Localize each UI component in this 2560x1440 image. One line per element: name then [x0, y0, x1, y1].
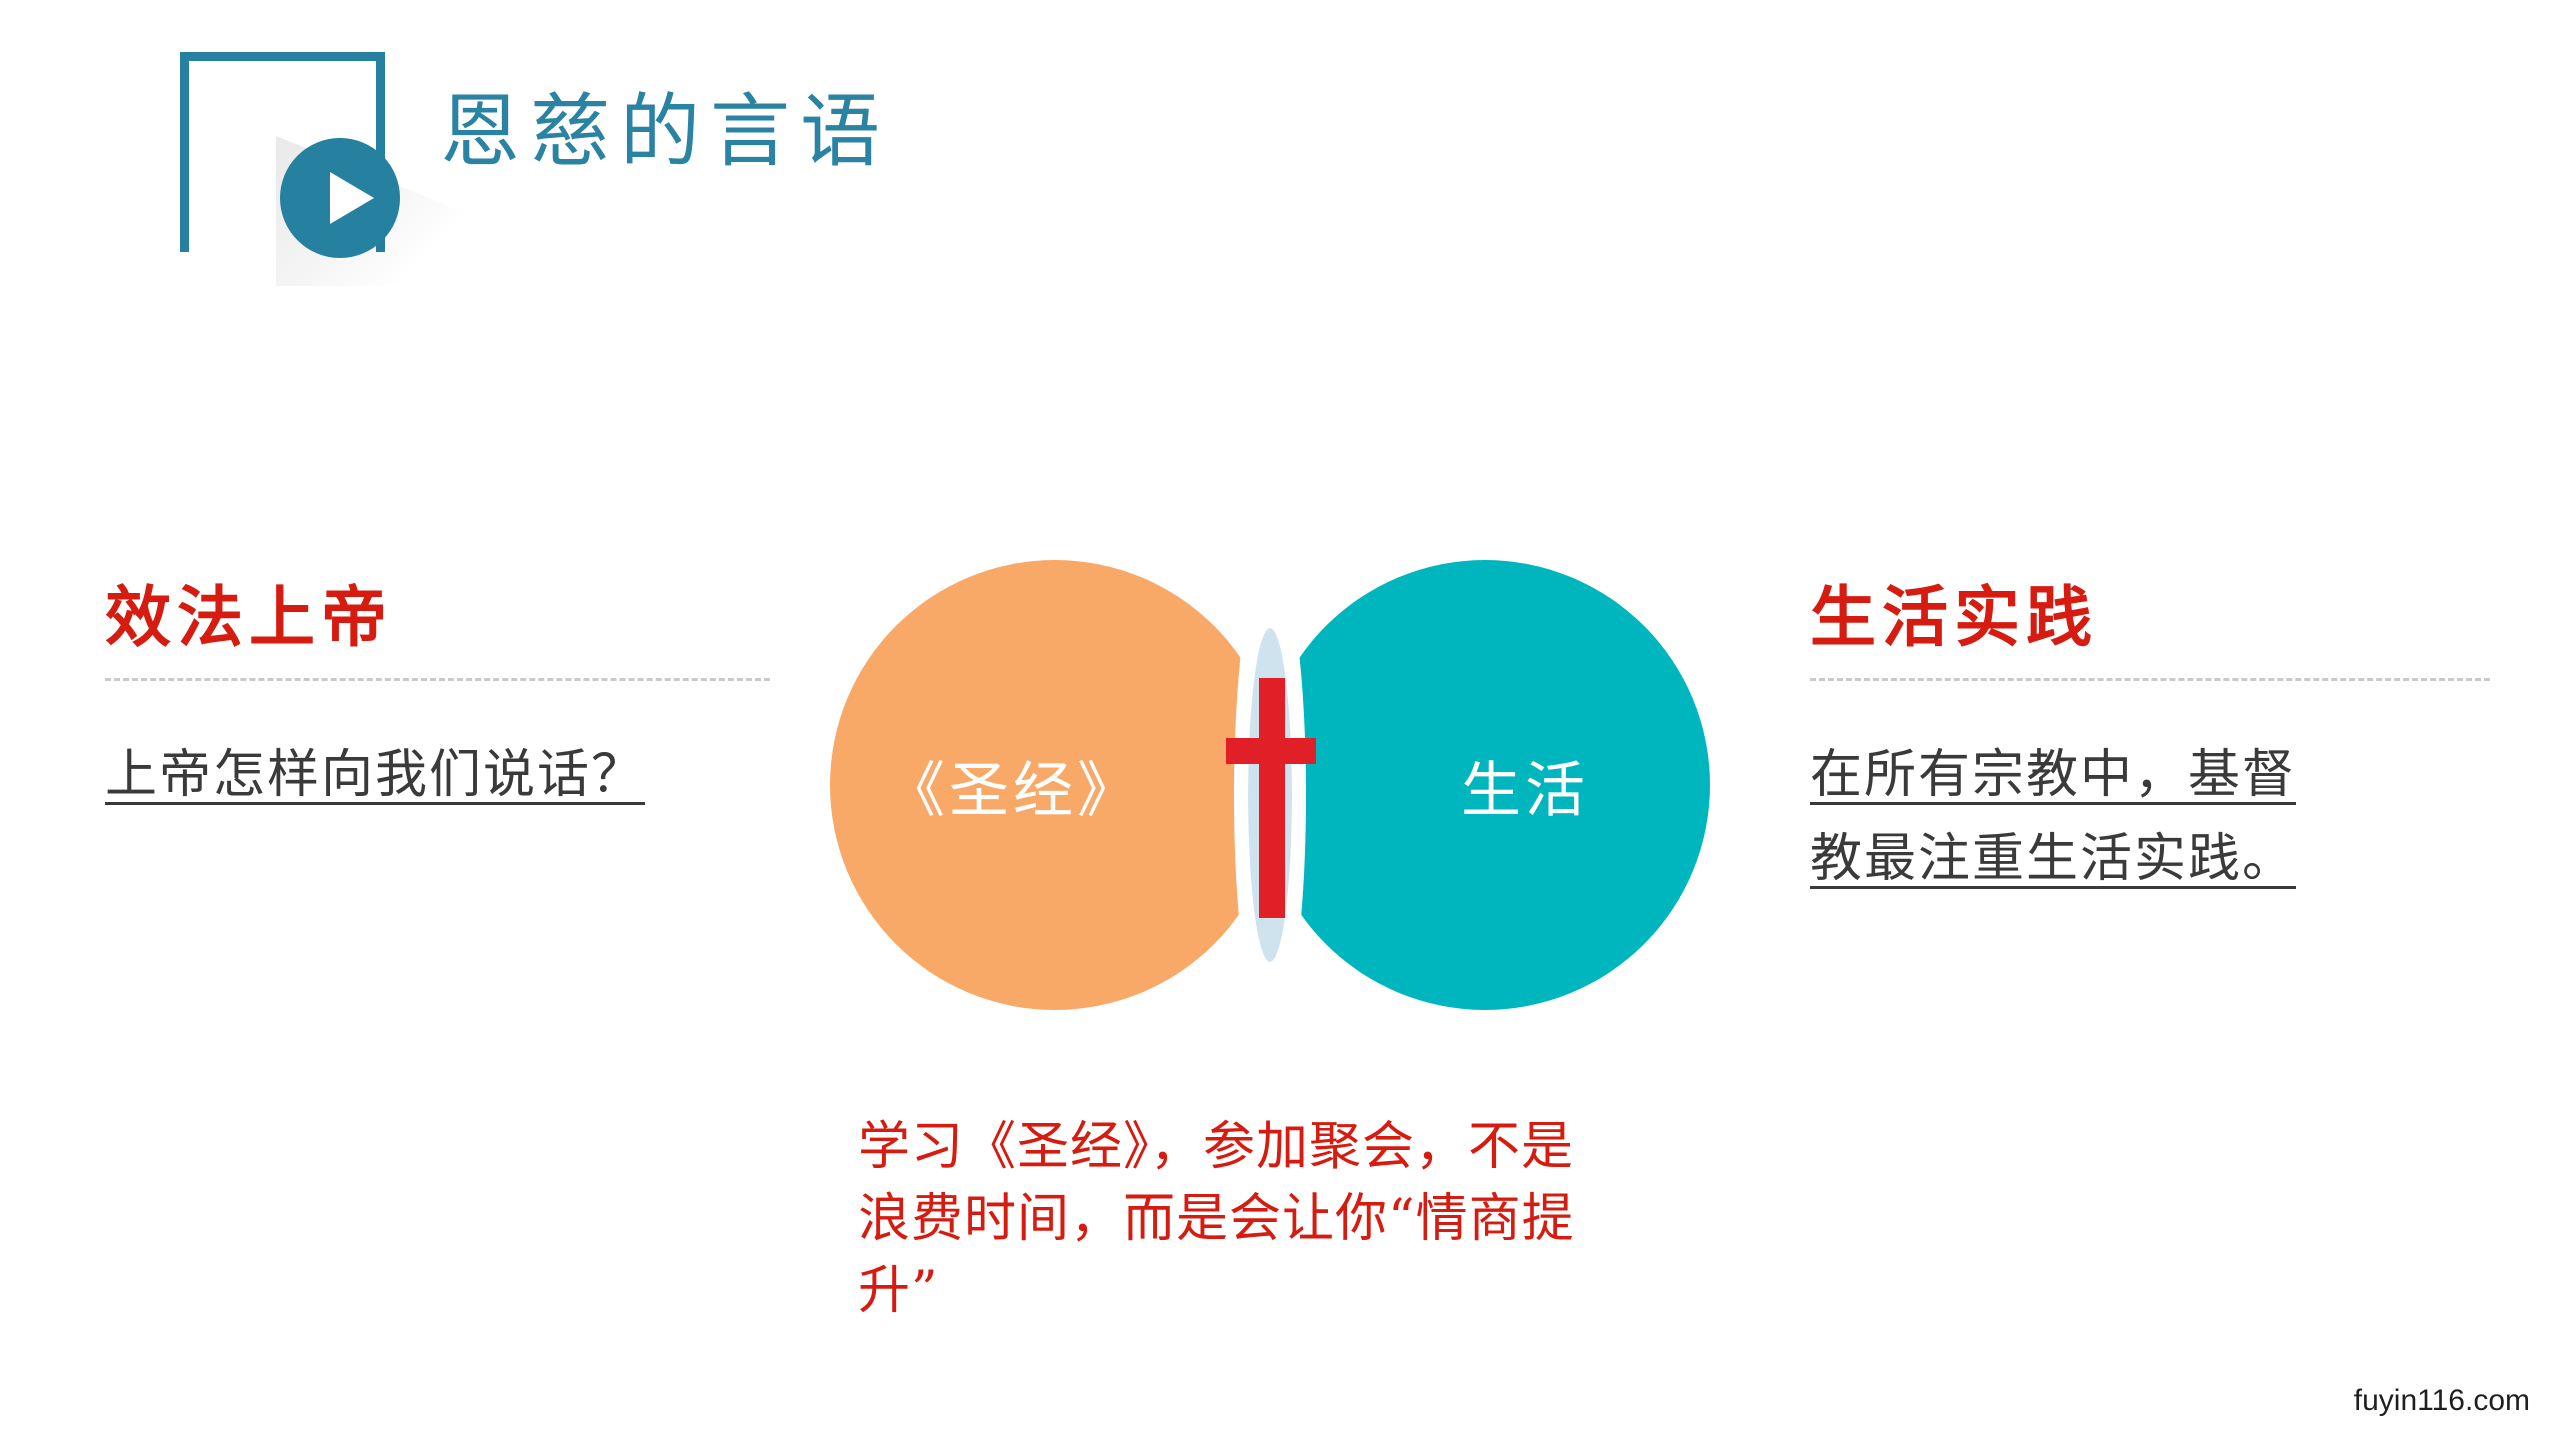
slide-header: 恩慈的言语 — [0, 0, 2560, 300]
cross-icon — [1226, 678, 1316, 918]
slide-canvas: 恩慈的言语 效法上帝 上帝怎样向我们说话？ 《圣经》 生活 生活实践 在所有宗教… — [0, 0, 2560, 1440]
site-watermark: fuyin116.com — [2354, 1384, 2530, 1418]
left-column-body: 上帝怎样向我们说话？ — [105, 733, 770, 817]
left-column-heading: 效法上帝 — [105, 580, 770, 656]
bottom-note-line: 学习《圣经》，参加聚会，不是 — [858, 1112, 1818, 1184]
venn-diagram: 《圣经》 生活 — [830, 560, 1710, 1030]
bracket-left-bar — [180, 52, 189, 222]
right-column-body-line: 教最注重生活实践。 — [1810, 817, 2490, 901]
play-triangle — [330, 172, 374, 224]
play-icon — [280, 138, 400, 258]
venn-circle-bible-label: 《圣经》 — [885, 742, 1141, 829]
bottom-note-line: 浪费时间，而是会让你“情商提 — [858, 1184, 1818, 1256]
page-title: 恩慈的言语 — [440, 88, 890, 176]
bottom-note: 学习《圣经》，参加聚会，不是 浪费时间，而是会让你“情商提 升” — [858, 1112, 1818, 1327]
bottom-note-line: 升” — [858, 1256, 1818, 1328]
right-column-divider — [1810, 678, 2490, 681]
cross-vertical-bar — [1259, 678, 1285, 918]
left-column-divider — [105, 678, 770, 681]
right-column: 生活实践 在所有宗教中，基督 教最注重生活实践。 — [1810, 580, 2490, 901]
venn-circle-bible: 《圣经》 — [830, 560, 1280, 1010]
left-column-body-line: 上帝怎样向我们说话？ — [105, 733, 770, 817]
logo — [180, 52, 385, 252]
bracket-bottom-left-bar — [180, 222, 189, 252]
cross-horizontal-bar — [1226, 738, 1316, 764]
right-column-body: 在所有宗教中，基督 教最注重生活实践。 — [1810, 733, 2490, 901]
bracket-top-bar — [180, 52, 385, 61]
right-column-heading: 生活实践 — [1810, 580, 2490, 656]
left-column: 效法上帝 上帝怎样向我们说话？ — [105, 580, 770, 817]
right-column-body-line: 在所有宗教中，基督 — [1810, 733, 2490, 817]
venn-circle-life: 生活 — [1260, 560, 1710, 1010]
venn-circle-life-label: 生活 — [1461, 742, 1589, 829]
